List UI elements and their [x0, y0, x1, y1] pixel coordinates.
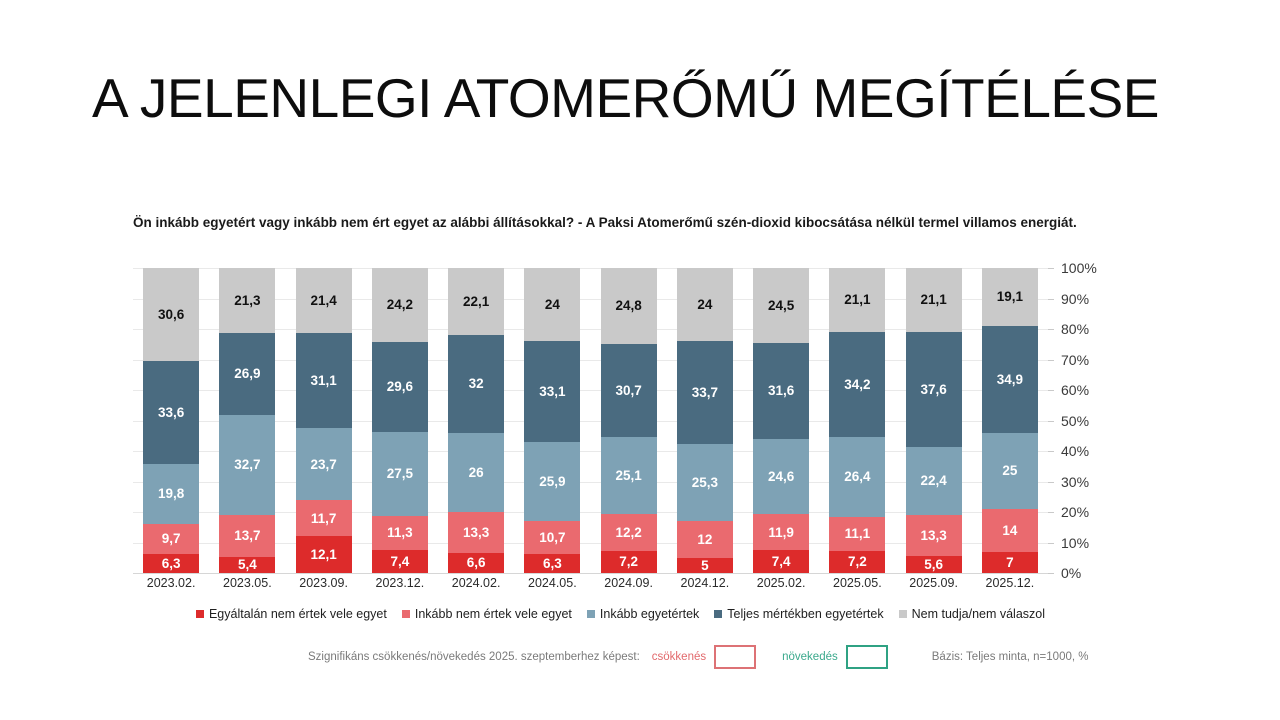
bar-segment-value: 7,4 — [772, 555, 791, 569]
chart-container: Ön inkább egyetért vagy inkább nem ért e… — [133, 213, 1133, 673]
y-axis-label: 30% — [1061, 474, 1089, 490]
bar-segment[interactable]: 34,2 — [829, 332, 885, 436]
bar-segment[interactable]: 33,6 — [143, 361, 199, 463]
bar-segment-value: 21,1 — [920, 293, 946, 307]
bar-segment-value: 24 — [697, 298, 712, 312]
legend-item[interactable]: Inkább nem értek vele egyet — [402, 607, 572, 621]
bar-segment-value: 7,2 — [619, 555, 638, 569]
bar-segment-value: 21,3 — [234, 294, 260, 308]
bar-segment-value: 13,7 — [234, 529, 260, 543]
bar-segment-value: 11,9 — [768, 526, 794, 540]
bar-segment-value: 5,4 — [238, 558, 257, 572]
bar-segment-value: 10,7 — [539, 531, 565, 545]
bar-segment-value: 19,8 — [158, 487, 184, 501]
x-axis-label: 2023.12. — [361, 576, 439, 590]
bar-segment[interactable]: 12 — [677, 521, 733, 558]
bar-segment[interactable]: 31,6 — [753, 343, 809, 439]
bar-segment[interactable]: 7,4 — [372, 550, 428, 573]
bar-segment[interactable]: 5 — [677, 558, 733, 573]
bar-segment[interactable]: 11,3 — [372, 516, 428, 550]
y-axis-label: 20% — [1061, 504, 1089, 520]
bar-segment-value: 9,7 — [162, 532, 181, 546]
bar-segment-value: 13,3 — [463, 526, 489, 540]
bar-segment-value: 34,9 — [997, 373, 1023, 387]
bar-segment-value: 7,4 — [390, 555, 409, 569]
legend-item[interactable]: Teljes mértékben egyetértek — [714, 607, 883, 621]
bar-segment[interactable]: 26,9 — [219, 333, 275, 415]
bar-segment[interactable]: 37,6 — [906, 332, 962, 447]
stacked-bars: 6,39,719,833,630,65,413,732,726,921,312,… — [133, 268, 1048, 573]
bar-segment-value: 5,6 — [924, 558, 943, 572]
bar-segment[interactable]: 6,6 — [448, 553, 504, 573]
bar-segment[interactable]: 7,2 — [829, 551, 885, 573]
bar-segment-value: 37,6 — [920, 383, 946, 397]
bar-segment-value: 12,2 — [615, 526, 641, 540]
y-axis-tick — [1048, 329, 1054, 330]
bar-segment[interactable]: 29,6 — [372, 342, 428, 432]
bar-segment-value: 24,5 — [768, 299, 794, 313]
decrease-legend-label: csökkenés — [652, 651, 706, 663]
bar-segment[interactable]: 9,7 — [143, 524, 199, 554]
bar-segment-value: 22,1 — [463, 295, 489, 309]
legend-swatch-icon — [587, 610, 595, 618]
bar-segment[interactable]: 19,8 — [143, 464, 199, 524]
y-axis-tick — [1048, 482, 1054, 483]
bar-segment-value: 6,3 — [162, 557, 181, 571]
bar-segment[interactable]: 26,4 — [829, 437, 885, 518]
bar-segment-value: 25,9 — [539, 475, 565, 489]
bar-segment-value: 25 — [1002, 464, 1017, 478]
x-axis-label: 2023.05. — [208, 576, 286, 590]
bar-segment-value: 11,3 — [387, 526, 413, 540]
bar-segment[interactable]: 21,1 — [829, 268, 885, 332]
y-axis-label: 50% — [1061, 413, 1089, 429]
bar-segment-value: 24,6 — [768, 470, 794, 484]
bar-segment-value: 6,6 — [467, 556, 486, 570]
bar-segment-value: 12,1 — [310, 548, 336, 562]
bar-segment[interactable]: 22,1 — [448, 268, 504, 335]
y-axis-label: 80% — [1061, 321, 1089, 337]
bar-segment-value: 24,2 — [387, 298, 413, 312]
decrease-swatch-box — [714, 645, 756, 669]
bar-segment-value: 22,4 — [920, 474, 946, 488]
y-axis-tick — [1048, 390, 1054, 391]
bar-segment-value: 24,8 — [615, 299, 641, 313]
bar-segment[interactable]: 22,4 — [906, 447, 962, 515]
bar-segment[interactable]: 25,3 — [677, 444, 733, 521]
plot-area: 6,39,719,833,630,65,413,732,726,921,312,… — [133, 268, 1048, 573]
bar-column[interactable]: 51225,333,724 — [677, 268, 733, 573]
bar-segment-value: 31,6 — [768, 384, 794, 398]
bar-segment[interactable]: 24 — [677, 268, 733, 341]
bar-segment-value: 33,1 — [539, 385, 565, 399]
bar-segment[interactable]: 24,6 — [753, 439, 809, 514]
bar-segment[interactable]: 25,9 — [524, 442, 580, 521]
y-axis-tick — [1048, 573, 1054, 574]
x-axis-label: 2024.02. — [437, 576, 515, 590]
legend-label: Egyáltalán nem értek vele egyet — [209, 607, 387, 621]
bar-segment-value: 29,6 — [387, 380, 413, 394]
bar-segment[interactable]: 7,2 — [601, 551, 657, 573]
x-axis-label: 2023.02. — [132, 576, 210, 590]
legend-swatch-icon — [196, 610, 204, 618]
bar-segment[interactable]: 11,1 — [829, 517, 885, 551]
increase-swatch-box — [846, 645, 888, 669]
bar-segment[interactable]: 5,6 — [906, 556, 962, 573]
y-axis-label: 100% — [1061, 260, 1097, 276]
bar-segment[interactable]: 21,3 — [219, 268, 275, 333]
bar-segment-value: 7 — [1006, 556, 1014, 570]
bar-column[interactable]: 7,211,126,434,221,1 — [829, 268, 885, 573]
y-axis-tick — [1048, 451, 1054, 452]
y-axis-label: 40% — [1061, 443, 1089, 459]
bar-segment[interactable]: 34,9 — [982, 326, 1038, 432]
bar-segment[interactable]: 19,1 — [982, 268, 1038, 326]
bar-segment-value: 31,1 — [310, 374, 336, 388]
bar-segment[interactable]: 10,7 — [524, 521, 580, 554]
bar-segment[interactable]: 21,1 — [906, 268, 962, 332]
bar-column[interactable]: 6,39,719,833,630,6 — [143, 268, 199, 573]
bar-column[interactable]: 5,413,732,726,921,3 — [219, 268, 275, 573]
y-axis-tick — [1048, 512, 1054, 513]
page-title: A JELENLEGI ATOMERŐMŰ MEGÍTÉLÉSE — [92, 66, 1192, 130]
bar-segment[interactable]: 25 — [982, 433, 1038, 509]
bar-segment-value: 23,7 — [310, 458, 336, 472]
bar-segment[interactable]: 31,1 — [296, 333, 352, 428]
legend-item[interactable]: Egyáltalán nem értek vele egyet — [196, 607, 387, 621]
bar-segment-value: 25,3 — [692, 476, 718, 490]
bar-segment-value: 21,1 — [844, 293, 870, 307]
bar-segment-value: 11,7 — [311, 512, 337, 526]
legend-swatch-icon — [402, 610, 410, 618]
x-axis-label: 2025.05. — [818, 576, 896, 590]
bar-column[interactable]: 7,411,924,631,624,5 — [753, 268, 809, 573]
x-axis-label: 2025.09. — [895, 576, 973, 590]
bar-column[interactable]: 12,111,723,731,121,4 — [296, 268, 352, 573]
bar-segment-value: 11,1 — [845, 527, 871, 541]
legend-label: Nem tudja/nem válaszol — [912, 607, 1045, 621]
bar-segment-value: 32,7 — [234, 458, 260, 472]
gridline — [133, 573, 1048, 574]
bar-segment[interactable]: 7 — [982, 552, 1038, 573]
bar-segment[interactable]: 13,7 — [219, 515, 275, 557]
bar-segment-value: 5 — [701, 559, 709, 573]
bar-segment-value: 32 — [469, 377, 484, 391]
bar-segment[interactable]: 6,3 — [524, 554, 580, 573]
legend-swatch-icon — [899, 610, 907, 618]
bar-segment[interactable]: 33,1 — [524, 341, 580, 442]
bar-column[interactable]: 6,613,3263222,1 — [448, 268, 504, 573]
legend-label: Teljes mértékben egyetértek — [727, 607, 883, 621]
bar-segment-value: 30,7 — [615, 384, 641, 398]
bar-segment[interactable]: 12,1 — [296, 536, 352, 573]
y-axis: 0%10%20%30%40%50%60%70%80%90%100% — [1061, 268, 1131, 573]
bar-segment-value: 6,3 — [543, 557, 562, 571]
bar-segment[interactable]: 25,1 — [601, 437, 657, 514]
bar-segment[interactable]: 24 — [524, 268, 580, 341]
bar-segment[interactable]: 7,4 — [753, 550, 809, 573]
bar-column[interactable]: 6,310,725,933,124 — [524, 268, 580, 573]
bar-segment-value: 7,2 — [848, 555, 867, 569]
y-axis-tick — [1048, 268, 1054, 269]
x-axis-label: 2025.12. — [971, 576, 1049, 590]
bar-segment[interactable]: 23,7 — [296, 428, 352, 500]
bar-segment-value: 13,3 — [920, 529, 946, 543]
legend-item[interactable]: Nem tudja/nem válaszol — [899, 607, 1045, 621]
bar-segment-value: 26,4 — [844, 470, 870, 484]
x-axis-label: 2024.09. — [590, 576, 668, 590]
bar-segment-value: 14 — [1002, 524, 1017, 538]
bar-segment-value: 33,6 — [158, 406, 184, 420]
bar-segment[interactable]: 26 — [448, 433, 504, 512]
legend-item[interactable]: Inkább egyetértek — [587, 607, 699, 621]
bar-column[interactable]: 5,613,322,437,621,1 — [906, 268, 962, 573]
increase-legend-label: növekedés — [782, 651, 838, 663]
bar-segment-value: 24 — [545, 298, 560, 312]
bar-segment-value: 21,4 — [310, 294, 336, 308]
bar-segment-value: 34,2 — [844, 378, 870, 392]
bar-segment-value: 30,6 — [158, 308, 184, 322]
x-axis-label: 2023.09. — [285, 576, 363, 590]
x-axis: 2023.02.2023.05.2023.09.2023.12.2024.02.… — [133, 576, 1048, 596]
bar-segment[interactable]: 11,7 — [296, 500, 352, 536]
bar-segment[interactable]: 32,7 — [219, 415, 275, 515]
bar-segment[interactable]: 21,4 — [296, 268, 352, 333]
x-axis-label: 2024.05. — [513, 576, 591, 590]
bar-segment[interactable]: 24,2 — [372, 268, 428, 342]
bar-segment[interactable]: 32 — [448, 335, 504, 433]
bar-segment[interactable]: 11,9 — [753, 514, 809, 550]
bar-segment[interactable]: 5,4 — [219, 557, 275, 573]
significance-note-text: Szignifikáns csökkenés/növekedés 2025. s… — [308, 651, 640, 663]
bar-segment-value: 26 — [469, 466, 484, 480]
bar-segment-value: 27,5 — [387, 467, 413, 481]
bar-segment[interactable]: 14 — [982, 509, 1038, 552]
basis-text: Bázis: Teljes minta, n=1000, % — [932, 651, 1089, 663]
bar-column[interactable]: 7,212,225,130,724,8 — [601, 268, 657, 573]
x-axis-label: 2024.12. — [666, 576, 744, 590]
bar-column[interactable]: 7142534,919,1 — [982, 268, 1038, 573]
y-axis-label: 90% — [1061, 291, 1089, 307]
bar-segment[interactable]: 6,3 — [143, 554, 199, 573]
legend-label: Inkább egyetértek — [600, 607, 699, 621]
bar-segment[interactable]: 24,8 — [601, 268, 657, 344]
y-axis-label: 70% — [1061, 352, 1089, 368]
bar-segment[interactable]: 13,3 — [906, 515, 962, 556]
chart-question-text: Ön inkább egyetért vagy inkább nem ért e… — [133, 213, 1093, 232]
bar-segment[interactable]: 27,5 — [372, 432, 428, 516]
y-axis-tick — [1048, 543, 1054, 544]
bar-segment[interactable]: 30,6 — [143, 268, 199, 361]
chart-legend: Egyáltalán nem értek vele egyetInkább ne… — [133, 607, 1108, 621]
y-axis-tick — [1048, 421, 1054, 422]
legend-label: Inkább nem értek vele egyet — [415, 607, 572, 621]
bar-segment-value: 19,1 — [997, 290, 1023, 304]
bar-segment-value: 25,1 — [615, 469, 641, 483]
x-axis-label: 2025.02. — [742, 576, 820, 590]
legend-swatch-icon — [714, 610, 722, 618]
bar-segment-value: 12 — [697, 533, 712, 547]
y-axis-tick — [1048, 360, 1054, 361]
y-axis-tick — [1048, 299, 1054, 300]
bar-segment[interactable]: 13,3 — [448, 512, 504, 553]
y-axis-label: 60% — [1061, 382, 1089, 398]
bar-column[interactable]: 7,411,327,529,624,2 — [372, 268, 428, 573]
bar-segment[interactable]: 24,5 — [753, 268, 809, 343]
bar-segment-value: 26,9 — [234, 367, 260, 381]
bar-segment[interactable]: 12,2 — [601, 514, 657, 551]
bar-segment[interactable]: 30,7 — [601, 344, 657, 438]
bar-segment-value: 33,7 — [692, 386, 718, 400]
chart-footnote: Szignifikáns csökkenés/növekedés 2025. s… — [308, 645, 1138, 669]
y-axis-label: 0% — [1061, 565, 1081, 581]
y-axis-label: 10% — [1061, 535, 1089, 551]
bar-segment[interactable]: 33,7 — [677, 341, 733, 444]
